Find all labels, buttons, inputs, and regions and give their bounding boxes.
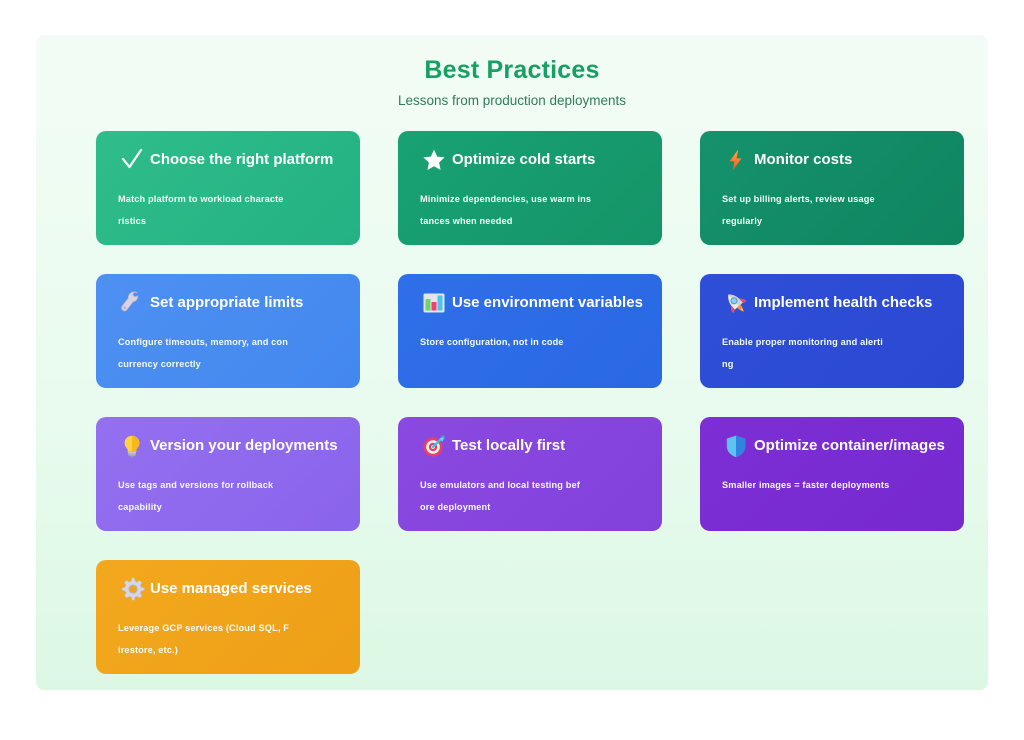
card-description: Enable proper monitoring and alerti ng: [714, 318, 950, 375]
card-description: Smaller images = faster deployments: [714, 461, 950, 496]
page-header: Best Practices Lessons from production d…: [36, 35, 988, 109]
card-title: Monitor costs: [754, 151, 852, 169]
card-description: Configure timeouts, memory, and con curr…: [110, 318, 346, 375]
shield-icon: [722, 432, 750, 460]
practice-card[interactable]: Implement health checks Enable proper mo…: [700, 274, 964, 388]
card-title: Choose the right platform: [150, 151, 333, 169]
card-header: Choose the right platform: [110, 145, 346, 175]
card-title: Implement health checks: [754, 294, 932, 312]
card-header: Optimize cold starts: [412, 145, 648, 175]
card-header: Use environment variables: [412, 288, 648, 318]
card-description: Use emulators and local testing bef ore …: [412, 461, 648, 518]
practice-card[interactable]: Test locally first Use emulators and loc…: [398, 417, 662, 531]
star-icon: [420, 146, 448, 174]
card-description: Minimize dependencies, use warm ins tanc…: [412, 175, 648, 232]
rocket-icon: [722, 289, 750, 317]
high-voltage-icon: [722, 146, 750, 174]
card-title: Version your deployments: [150, 437, 338, 455]
practice-card[interactable]: Optimize container/images Smaller images…: [700, 417, 964, 531]
card-description: Match platform to workload characte rist…: [110, 175, 346, 232]
card-description: Leverage GCP services (Cloud SQL, F ires…: [110, 604, 346, 661]
gear-icon: [118, 575, 146, 603]
card-title: Use managed services: [150, 580, 312, 598]
light-bulb-icon: [118, 432, 146, 460]
best-practices-grid: Choose the right platform Match platform…: [96, 131, 968, 674]
card-header: Monitor costs: [714, 145, 950, 175]
card-title: Optimize cold starts: [452, 151, 595, 169]
best-practices-panel: Best Practices Lessons from production d…: [36, 35, 988, 690]
practice-card[interactable]: Use environment variables Store configur…: [398, 274, 662, 388]
practice-card[interactable]: Version your deployments Use tags and ve…: [96, 417, 360, 531]
check-mark-icon: [118, 146, 146, 174]
page-subtitle: Lessons from production deployments: [36, 85, 988, 109]
card-title: Optimize container/images: [754, 437, 945, 455]
card-header: Test locally first: [412, 431, 648, 461]
card-header: Implement health checks: [714, 288, 950, 318]
card-description: Use tags and versions for rollback capab…: [110, 461, 346, 518]
card-description: Store configuration, not in code: [412, 318, 648, 353]
practice-card[interactable]: Optimize cold starts Minimize dependenci…: [398, 131, 662, 245]
card-description: Set up billing alerts, review usage regu…: [714, 175, 950, 232]
card-title: Use environment variables: [452, 294, 643, 312]
wrench-icon: [118, 289, 146, 317]
card-title: Test locally first: [452, 437, 565, 455]
card-title: Set appropriate limits: [150, 294, 303, 312]
card-header: Use managed services: [110, 574, 346, 604]
card-header: Set appropriate limits: [110, 288, 346, 318]
practice-card[interactable]: Use managed services Leverage GCP servic…: [96, 560, 360, 674]
practice-card[interactable]: Choose the right platform Match platform…: [96, 131, 360, 245]
practice-card[interactable]: Monitor costs Set up billing alerts, rev…: [700, 131, 964, 245]
page-title: Best Practices: [36, 55, 988, 85]
card-header: Optimize container/images: [714, 431, 950, 461]
bar-chart-icon: [420, 289, 448, 317]
card-header: Version your deployments: [110, 431, 346, 461]
practice-card[interactable]: Set appropriate limits Configure timeout…: [96, 274, 360, 388]
dart-target-icon: [420, 432, 448, 460]
